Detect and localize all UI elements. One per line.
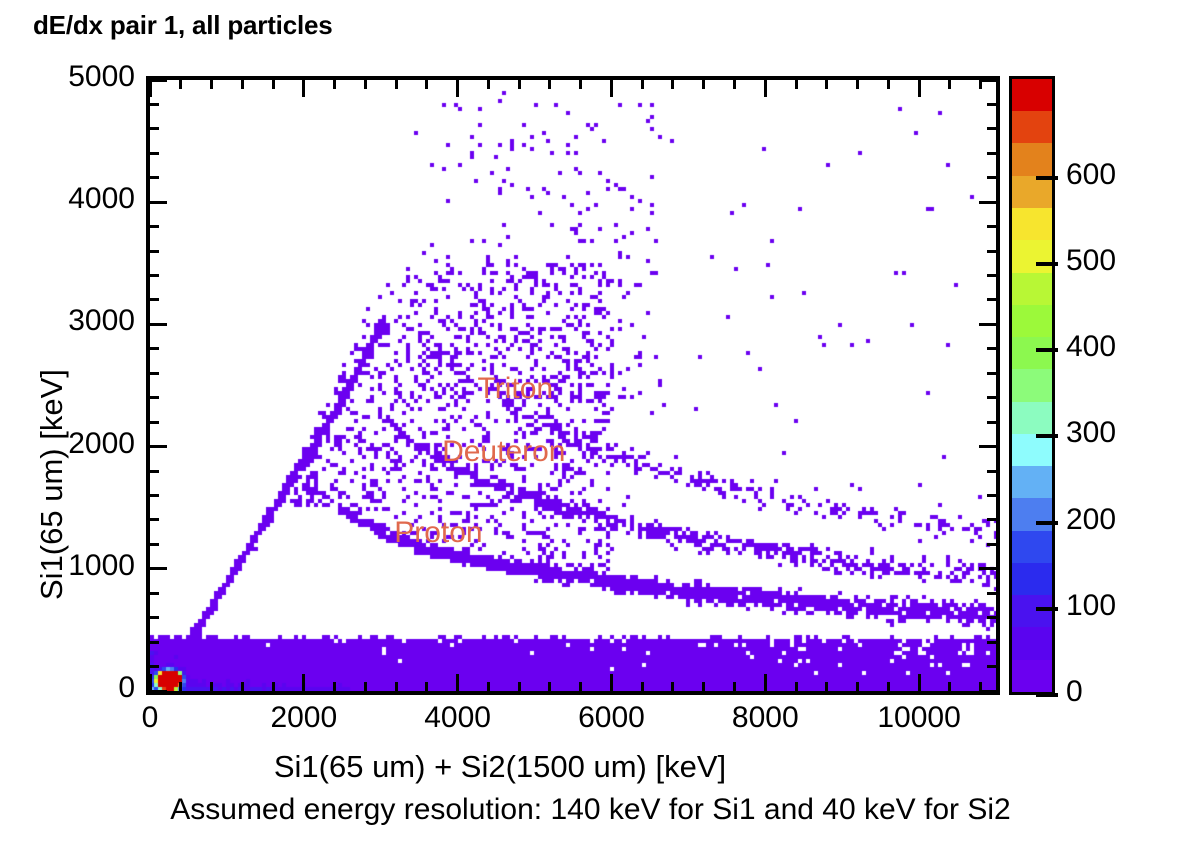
- y-tick-right: [979, 79, 996, 82]
- x-tick-top: [210, 80, 213, 89]
- x-tick: [149, 674, 152, 691]
- y-tick-right: [987, 641, 996, 644]
- x-tick: [364, 682, 367, 691]
- colorbar-band: [1012, 660, 1052, 692]
- colorbar-tick: [1036, 607, 1058, 611]
- y-tick-right: [979, 690, 996, 693]
- x-tick: [733, 682, 736, 691]
- y-tick-label: 3000: [0, 304, 135, 338]
- y-tick: [150, 543, 159, 546]
- x-tick: [333, 682, 336, 691]
- y-tick: [150, 567, 167, 570]
- x-tick: [641, 682, 644, 691]
- colorbar: [1009, 76, 1055, 695]
- plot-page: dE/dx pair 1, all particles TritonDeuter…: [0, 0, 1181, 847]
- colorbar-band: [1012, 627, 1052, 659]
- y-tick-label: 5000: [0, 60, 135, 94]
- x-tick: [395, 682, 398, 691]
- x-tick: [702, 682, 705, 691]
- x-tick-top: [825, 80, 828, 89]
- colorbar-tick-label: 100: [1066, 589, 1116, 623]
- y-tick-right: [987, 274, 996, 277]
- x-tick-label: 0: [90, 701, 210, 735]
- x-tick-label: 6000: [551, 701, 671, 735]
- colorbar-band: [1012, 434, 1052, 466]
- y-tick-right: [979, 323, 996, 326]
- colorbar-tick-label: 600: [1066, 158, 1116, 192]
- x-tick: [579, 682, 582, 691]
- y-tick: [150, 470, 159, 473]
- x-tick: [302, 674, 305, 691]
- band-label-triton: Triton: [478, 372, 554, 406]
- x-tick-top: [395, 80, 398, 89]
- y-tick: [150, 79, 167, 82]
- colorbar-tick-label: 300: [1066, 416, 1116, 450]
- colorbar-tick: [1036, 176, 1058, 180]
- y-tick-right: [987, 103, 996, 106]
- y-tick: [150, 372, 159, 375]
- y-tick: [150, 445, 167, 448]
- x-tick: [948, 682, 951, 691]
- x-tick: [764, 674, 767, 691]
- x-tick-top: [671, 80, 674, 89]
- x-tick-top: [425, 80, 428, 89]
- colorbar-tick-label: 200: [1066, 503, 1116, 537]
- colorbar-band: [1012, 498, 1052, 530]
- x-tick-top: [364, 80, 367, 89]
- colorbar-tick: [1036, 348, 1058, 352]
- y-tick-right: [987, 176, 996, 179]
- y-tick: [150, 176, 159, 179]
- colorbar-band: [1012, 595, 1052, 627]
- x-tick: [210, 682, 213, 691]
- x-tick-top: [518, 80, 521, 89]
- y-tick: [150, 421, 159, 424]
- y-tick: [150, 518, 159, 521]
- y-axis-title: Si1(65 um) [keV]: [34, 369, 70, 600]
- y-tick-right: [979, 445, 996, 448]
- x-tick-top: [856, 80, 859, 89]
- x-tick-label: 4000: [398, 701, 518, 735]
- y-tick: [150, 250, 159, 253]
- y-tick: [150, 592, 159, 595]
- y-tick: [150, 396, 159, 399]
- x-tick-label: 10000: [859, 701, 979, 735]
- x-tick: [671, 682, 674, 691]
- y-tick: [150, 641, 159, 644]
- x-tick: [825, 682, 828, 691]
- x-tick-top: [579, 80, 582, 89]
- y-tick-right: [987, 543, 996, 546]
- y-tick-label: 4000: [0, 182, 135, 216]
- colorbar-band: [1012, 305, 1052, 337]
- band-label-deuteron: Deuteron: [442, 435, 565, 469]
- x-tick-label: 2000: [244, 701, 364, 735]
- colorbar-band: [1012, 208, 1052, 240]
- y-tick: [150, 274, 159, 277]
- x-tick-top: [456, 80, 459, 97]
- y-tick: [150, 298, 159, 301]
- y-tick-right: [987, 298, 996, 301]
- y-tick-label: 0: [0, 671, 135, 705]
- y-tick: [150, 665, 159, 668]
- colorbar-band: [1012, 111, 1052, 143]
- x-tick-top: [948, 80, 951, 89]
- x-tick: [272, 682, 275, 691]
- figure-caption: Assumed energy resolution: 140 keV for S…: [0, 793, 1181, 827]
- colorbar-band: [1012, 402, 1052, 434]
- y-tick-right: [987, 494, 996, 497]
- y-tick: [150, 127, 159, 130]
- colorbar-band: [1012, 273, 1052, 305]
- x-tick-top: [733, 80, 736, 89]
- x-tick-top: [918, 80, 921, 97]
- x-tick-top: [272, 80, 275, 89]
- colorbar-tick: [1036, 693, 1058, 697]
- y-tick-right: [987, 372, 996, 375]
- page-title: dE/dx pair 1, all particles: [33, 10, 333, 41]
- x-tick: [456, 674, 459, 691]
- band-label-proton: Proton: [394, 516, 482, 550]
- y-tick: [150, 690, 167, 693]
- colorbar-band: [1012, 79, 1052, 111]
- y-tick-right: [987, 421, 996, 424]
- x-tick-top: [487, 80, 490, 89]
- x-tick: [518, 682, 521, 691]
- x-tick-top: [241, 80, 244, 89]
- y-tick: [150, 347, 159, 350]
- x-tick-label: 8000: [705, 701, 825, 735]
- colorbar-band: [1012, 337, 1052, 369]
- colorbar-band: [1012, 176, 1052, 208]
- y-tick: [150, 103, 159, 106]
- x-tick-top: [179, 80, 182, 89]
- x-tick-top: [548, 80, 551, 89]
- x-tick-top: [702, 80, 705, 89]
- x-tick-top: [764, 80, 767, 97]
- colorbar-band: [1012, 466, 1052, 498]
- y-tick-right: [987, 592, 996, 595]
- x-tick-top: [302, 80, 305, 97]
- x-tick: [795, 682, 798, 691]
- x-tick: [887, 682, 890, 691]
- colorbar-band: [1012, 240, 1052, 272]
- x-tick-top: [333, 80, 336, 89]
- y-tick-right: [987, 250, 996, 253]
- colorbar-tick-label: 500: [1066, 244, 1116, 278]
- y-tick-right: [987, 665, 996, 668]
- y-tick-right: [979, 201, 996, 204]
- y-tick: [150, 152, 159, 155]
- x-axis-title: Si1(65 um) + Si2(1500 um) [keV]: [0, 749, 1000, 785]
- y-tick: [150, 201, 167, 204]
- colorbar-tick-label: 400: [1066, 330, 1116, 364]
- x-tick-top: [795, 80, 798, 89]
- colorbar-tick: [1036, 262, 1058, 266]
- histogram-canvas: [150, 80, 996, 691]
- y-tick-right: [987, 518, 996, 521]
- y-tick: [150, 225, 159, 228]
- y-tick-right: [979, 567, 996, 570]
- colorbar-tick: [1036, 521, 1058, 525]
- colorbar-band: [1012, 563, 1052, 595]
- y-tick-right: [987, 396, 996, 399]
- colorbar-band: [1012, 369, 1052, 401]
- y-tick-right: [987, 127, 996, 130]
- y-tick: [150, 494, 159, 497]
- x-tick: [548, 682, 551, 691]
- y-tick-right: [987, 470, 996, 473]
- x-tick-top: [149, 80, 152, 97]
- x-tick: [918, 674, 921, 691]
- plot-frame: [146, 76, 1000, 695]
- x-tick: [241, 682, 244, 691]
- y-tick-right: [987, 152, 996, 155]
- y-tick: [150, 616, 159, 619]
- histogram-area: [150, 80, 996, 691]
- x-tick-top: [610, 80, 613, 97]
- x-tick: [487, 682, 490, 691]
- colorbar-tick: [1036, 434, 1058, 438]
- x-tick-top: [887, 80, 890, 89]
- y-tick-right: [987, 616, 996, 619]
- y-tick-right: [987, 225, 996, 228]
- colorbar-band: [1012, 531, 1052, 563]
- x-tick: [425, 682, 428, 691]
- x-tick: [179, 682, 182, 691]
- x-tick: [856, 682, 859, 691]
- y-tick: [150, 323, 167, 326]
- y-tick-right: [987, 347, 996, 350]
- x-tick-top: [641, 80, 644, 89]
- colorbar-tick-label: 0: [1066, 675, 1083, 709]
- colorbar-band: [1012, 143, 1052, 175]
- x-tick: [610, 674, 613, 691]
- colorbar-gradient: [1012, 79, 1052, 692]
